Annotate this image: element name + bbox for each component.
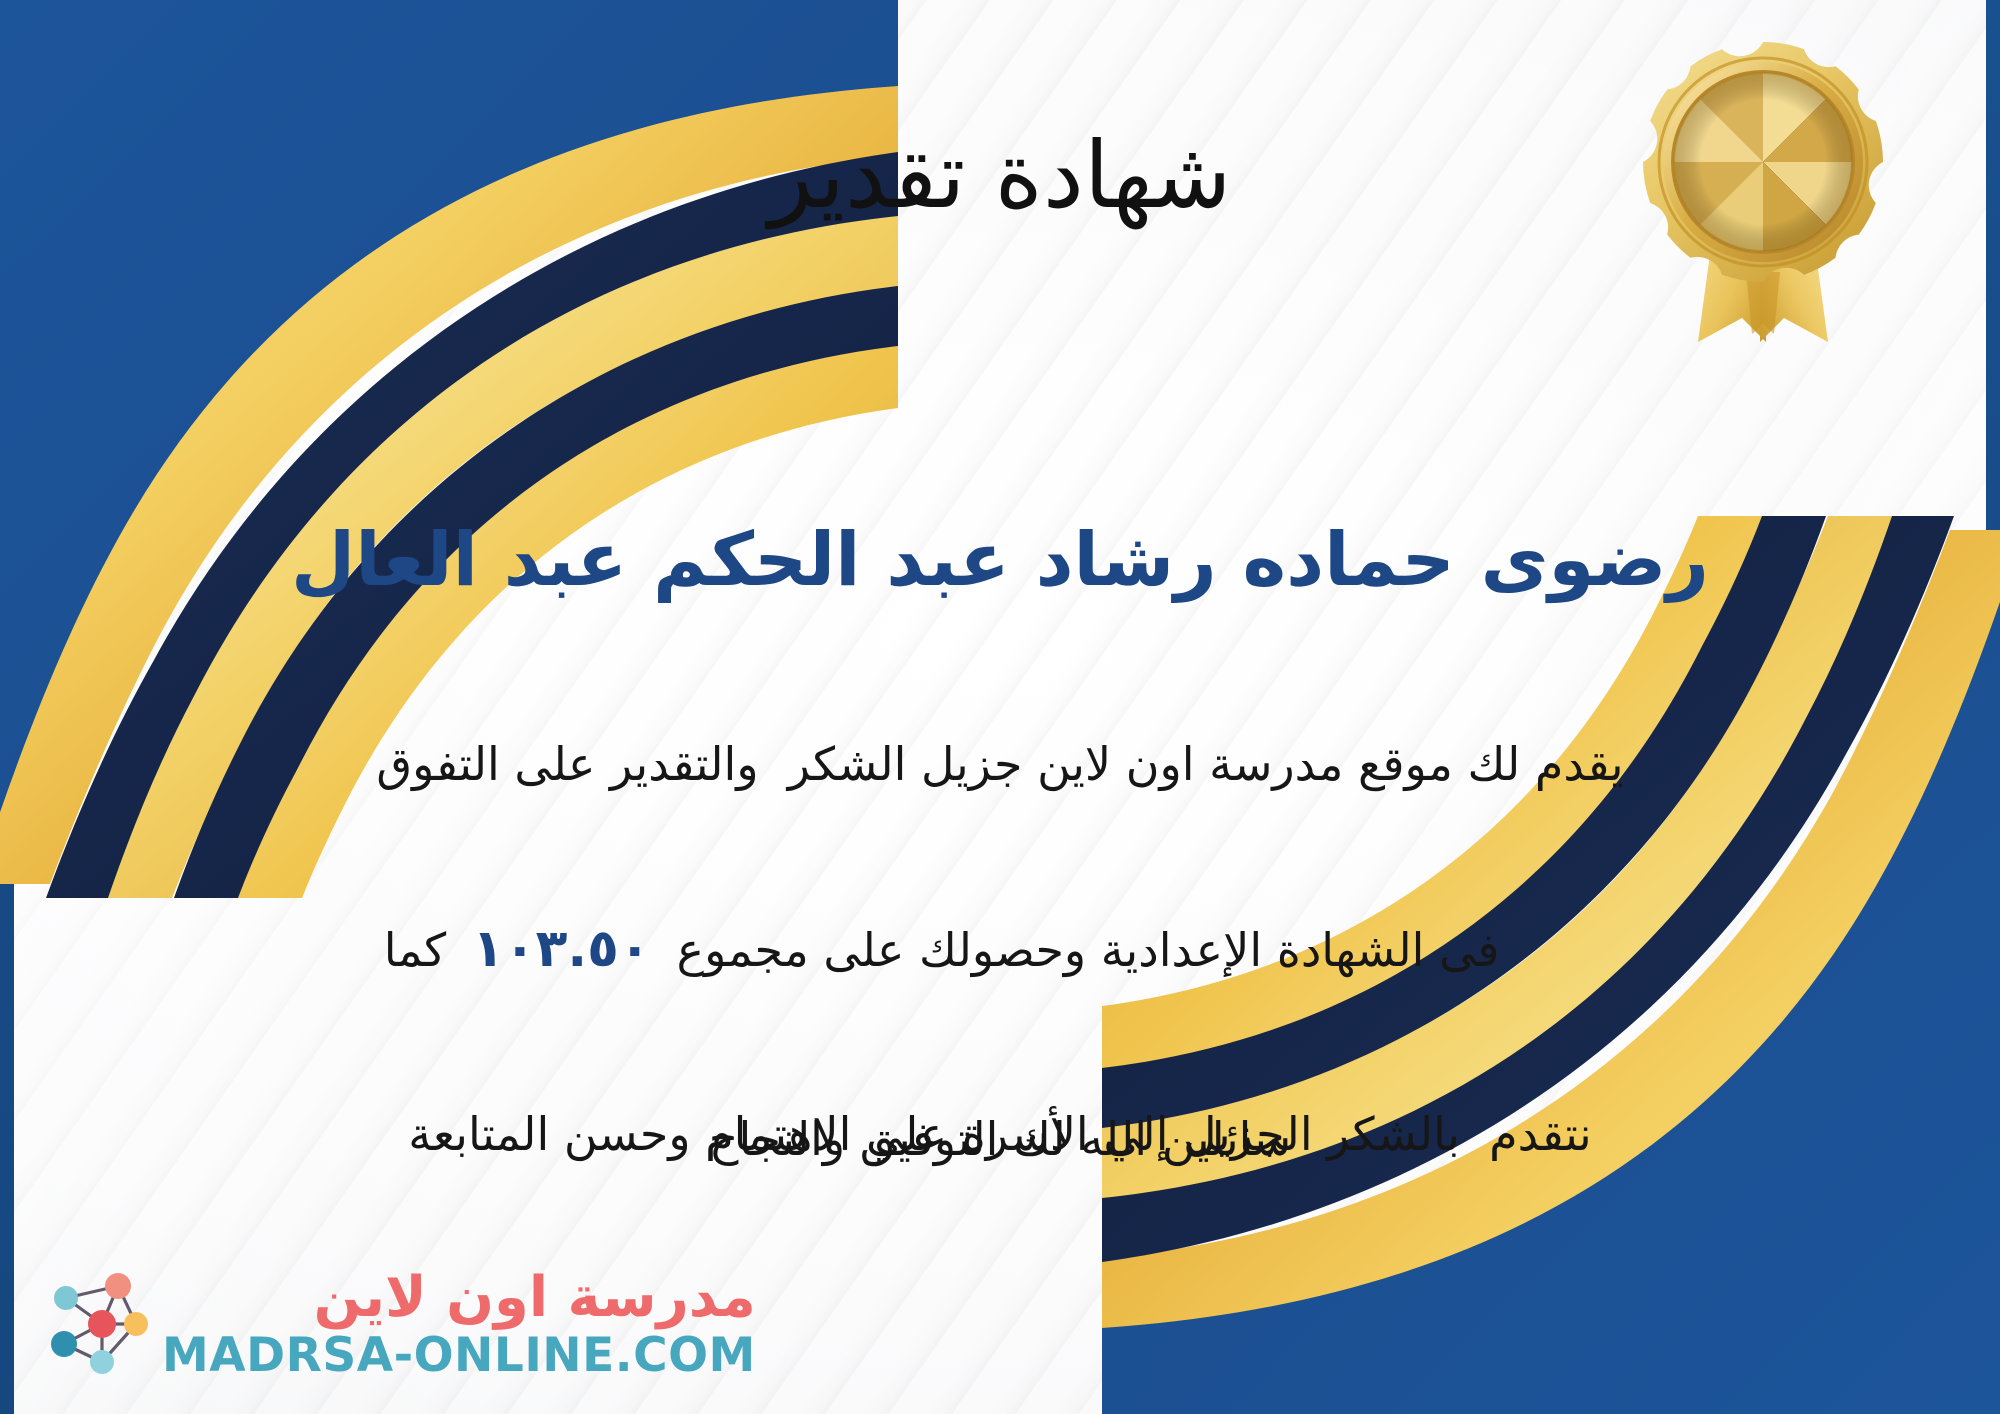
student-name: رضوى حماده رشاد عبد الحكم عبد العال — [0, 512, 2000, 608]
brand-logo[interactable]: مدرسة اون لاين MADRSA-ONLINE.COM — [40, 1264, 756, 1384]
network-nodes-icon — [40, 1264, 152, 1384]
body-line-1: يقدم لك موقع مدرسة اون لاين جزيل الشكر و… — [200, 720, 1800, 810]
body-line-2-suffix: كما — [384, 923, 447, 977]
certificate-content: شهادة تقدير رضوى حماده رشاد عبد الحكم عب… — [0, 0, 2000, 1414]
total-score-value: ١٠٣.٥٠ — [446, 919, 676, 979]
certificate-canvas: شهادة تقدير رضوى حماده رشاد عبد الحكم عب… — [0, 0, 2000, 1414]
closing-wishes: سائلين الله لك التوفيق والنجاح — [0, 1112, 2000, 1166]
logo-text-group: مدرسة اون لاين MADRSA-ONLINE.COM — [162, 1270, 756, 1379]
logo-domain: MADRSA-ONLINE.COM — [162, 1332, 756, 1379]
body-line-2-prefix: فى الشهادة الإعدادية وحصولك على مجموع — [677, 923, 1500, 977]
logo-arabic-name: مدرسة اون لاين — [314, 1270, 756, 1326]
certificate-title: شهادة تقدير — [0, 118, 2000, 233]
body-line-2: فى الشهادة الإعدادية وحصولك على مجموع١٠٣… — [200, 810, 1800, 1091]
